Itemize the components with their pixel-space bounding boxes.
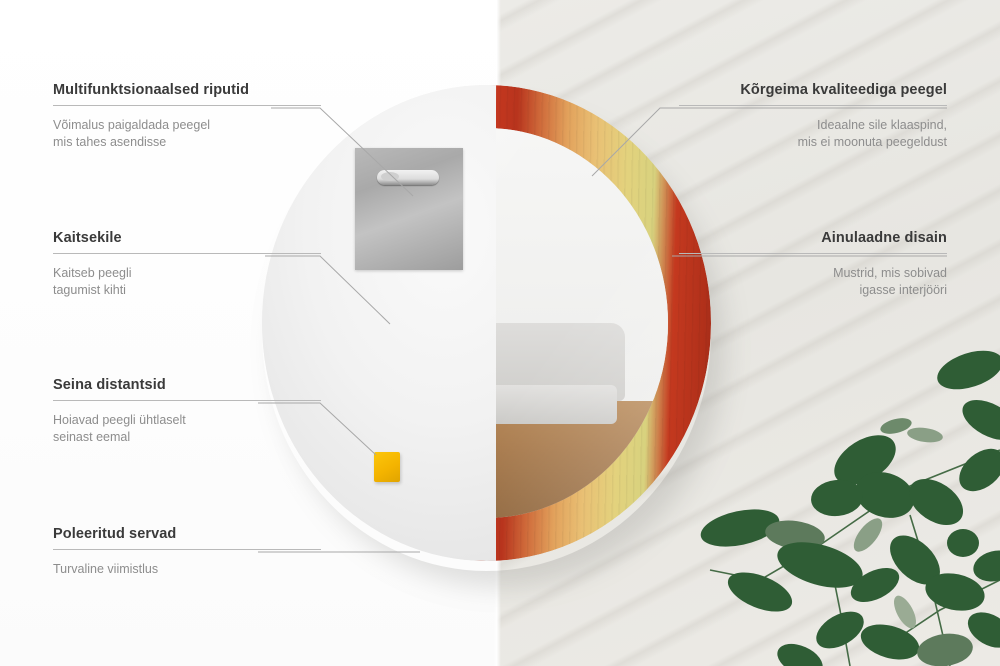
callout-rule [53,253,321,254]
callout-protective-film: Kaitsekile Kaitseb peegli tagumist kihti [53,230,321,299]
callout-rule [53,105,321,106]
callout-rule [679,253,947,254]
callout-rule [679,105,947,106]
callout-title: Ainulaadne disain [679,230,947,246]
callout-unique-design: Ainulaadne disain Mustrid, mis sobivad i… [679,230,947,299]
foliage-decoration [700,330,1000,666]
callout-wall-spacers: Seina distantsid Hoiavad peegli ühtlasel… [53,377,321,446]
callout-title: Poleeritud servad [53,526,321,542]
callout-description: Turvaline viimistlus [53,561,321,578]
callout-rule [53,400,321,401]
hanger-plate [355,148,463,270]
callout-description: Võimalus paigaldada peegel mis tahes ase… [53,117,321,151]
mirror-product [262,85,711,561]
hanger-slot [377,170,439,185]
callout-description: Ideaalne sile klaaspind, mis ei moonuta … [679,117,947,151]
infographic-canvas: Multifunktsionaalsed riputid Võimalus pa… [0,0,1000,666]
mirror-clip [262,85,711,561]
callout-multifunctional-hangers: Multifunktsionaalsed riputid Võimalus pa… [53,82,321,151]
callout-description: Kaitseb peegli tagumist kihti [53,265,321,299]
wall-spacer [374,452,400,482]
callout-highest-quality-mirror: Kõrgeima kvaliteediga peegel Ideaalne si… [679,82,947,151]
callout-description: Hoiavad peegli ühtlaselt seinast eemal [53,412,321,446]
callout-title: Kaitsekile [53,230,321,246]
callout-description: Mustrid, mis sobivad igasse interjööri [679,265,947,299]
callout-polished-edges: Poleeritud servad Turvaline viimistlus [53,526,321,578]
callout-title: Multifunktsionaalsed riputid [53,82,321,98]
callout-title: Seina distantsid [53,377,321,393]
callout-rule [53,549,321,550]
callout-title: Kõrgeima kvaliteediga peegel [679,82,947,98]
